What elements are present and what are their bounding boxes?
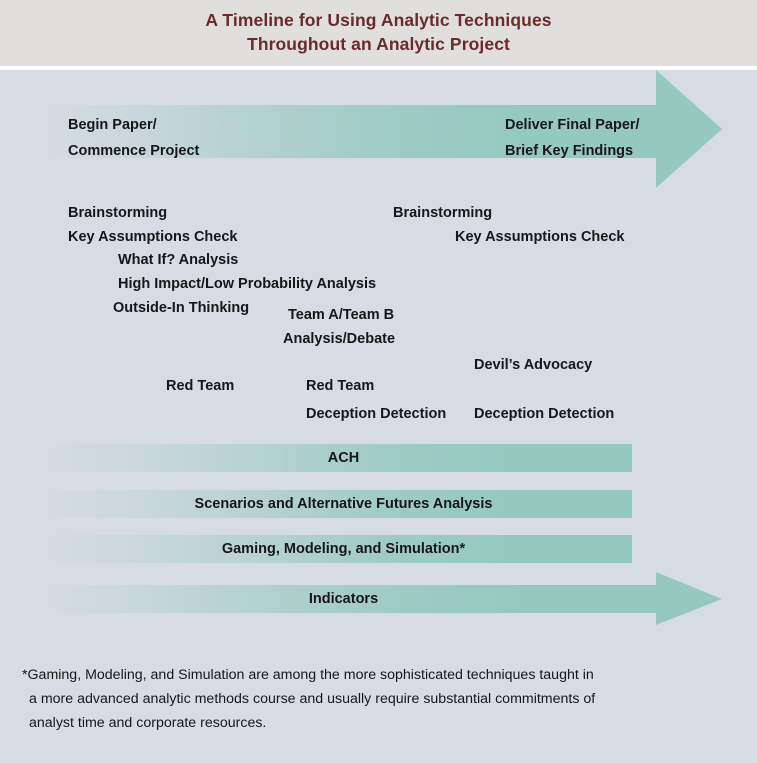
technique-label-deception-detection-late: Deception Detection: [474, 401, 614, 427]
technique-bar-gaming-label: Gaming, Modeling, and Simulation*: [55, 535, 632, 563]
footnote-line-2: a more advanced analytic methods course …: [22, 687, 722, 711]
timeline-start-label-line-2: Commence Project: [68, 138, 199, 164]
technique-bar-ach-label: ACH: [55, 444, 632, 472]
technique-bar-gaming: Gaming, Modeling, and Simulation*: [55, 535, 632, 563]
page-title: A Timeline for Using Analytic Techniques…: [0, 8, 757, 56]
timeline-start-label: Begin Paper/ Commence Project: [68, 112, 199, 164]
technique-bar-scenarios-label: Scenarios and Alternative Futures Analys…: [55, 490, 632, 518]
technique-label-brainstorming-early: Brainstorming: [68, 200, 167, 226]
technique-label-team-a-team-b: Team A/Team B: [288, 302, 394, 328]
technique-label-deception-detection-middle: Deception Detection: [306, 401, 446, 427]
timeline-start-label-line-1: Begin Paper/: [68, 112, 199, 138]
footnote-line-3: analyst time and corporate resources.: [22, 711, 722, 735]
technique-label-outside-in-thinking: Outside-In Thinking: [113, 295, 249, 321]
timeline-end-label: Deliver Final Paper/ Brief Key Findings: [505, 112, 640, 164]
technique-bar-ach: ACH: [55, 444, 632, 472]
title-line-1: A Timeline for Using Analytic Techniques: [0, 8, 757, 32]
diagram-page: A Timeline for Using Analytic Techniques…: [0, 0, 757, 763]
footnote-line-1: *Gaming, Modeling, and Simulation are am…: [22, 663, 722, 687]
technique-label-red-team-middle: Red Team: [306, 373, 374, 399]
technique-label-red-team-early: Red Team: [166, 373, 234, 399]
technique-label-high-impact-low-probability: High Impact/Low Probability Analysis: [118, 271, 376, 297]
technique-label-analysis-debate: Analysis/Debate: [283, 326, 395, 352]
technique-label-brainstorming-late: Brainstorming: [393, 200, 492, 226]
timeline-end-label-line-2: Brief Key Findings: [505, 138, 640, 164]
title-line-2: Throughout an Analytic Project: [0, 32, 757, 56]
technique-label-key-assumptions-check-late: Key Assumptions Check: [455, 224, 624, 250]
technique-label-devils-advocacy: Devil’s Advocacy: [474, 352, 592, 378]
technique-bar-scenarios: Scenarios and Alternative Futures Analys…: [55, 490, 632, 518]
footnote: *Gaming, Modeling, and Simulation are am…: [22, 663, 722, 735]
indicators-arrow-label: Indicators: [55, 585, 632, 613]
timeline-end-label-line-1: Deliver Final Paper/: [505, 112, 640, 138]
technique-label-what-if-analysis: What If? Analysis: [118, 247, 238, 273]
